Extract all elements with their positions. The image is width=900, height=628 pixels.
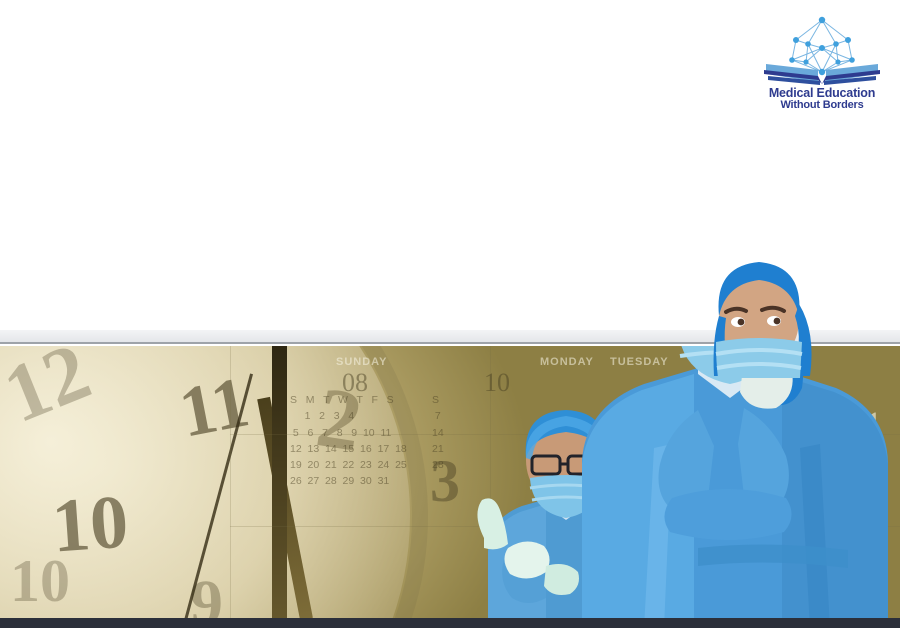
- feature-badges: 365 DAYS ALL YEAR LONG: [80, 272, 650, 328]
- subtitle-pill: for Healthcare Practitioners: [74, 188, 810, 244]
- subtitle-text: for Healthcare Practitioners: [197, 197, 687, 235]
- title-line-1: Stress Management: [0, 38, 790, 97]
- badge-divider-2: [456, 277, 457, 323]
- feature-0-line1: ALL YEAR: [135, 279, 229, 300]
- calendar-numeral-10: 10: [10, 551, 70, 611]
- icon-text-days: DAYS: [93, 303, 113, 312]
- feature-all-year-long[interactable]: 365 DAYS ALL YEAR LONG: [80, 272, 229, 328]
- logo[interactable]: Medical Education Without Borders: [762, 14, 882, 106]
- practitioner-foreground-female: [548, 346, 900, 618]
- page-title: Stress Management and Time Management: [0, 38, 790, 157]
- feature-label-accessible: ACCESSIBLE 24/7: [317, 279, 439, 320]
- 365-days-circular-arrow-icon: 365 DAYS: [80, 277, 126, 323]
- feature-1-line2: 24/7: [317, 300, 439, 321]
- feature-2-line2: COURSE: [530, 300, 611, 321]
- calendar-month-10: 10: [484, 368, 510, 398]
- feature-label-all-year-long: ALL YEAR LONG: [135, 279, 229, 320]
- feature-1-line1: ACCESSIBLE: [317, 279, 439, 300]
- calendar-grid-right: S 7 14 21 28: [432, 392, 444, 473]
- feature-accessible-24-7[interactable]: ACCESSIBLE 24/7: [262, 272, 439, 328]
- title-line-2: and Time Management: [0, 97, 790, 156]
- feature-label-online-course: ONLINE COURSE: [530, 279, 611, 320]
- calendar-label-sunday: SUNDAY: [336, 356, 387, 368]
- calendar-grid-left: S M T W T F S 1 2 3 4 5 6 7 8 9 10 11 12…: [290, 392, 407, 490]
- practitioner-head-overlap: [700, 258, 818, 378]
- laptop-icon: [473, 279, 521, 321]
- course-promo-banner: 12 11 10 9 2 3 10 11 SUNDAY MONDAY TUESD…: [0, 0, 900, 628]
- feature-online-course[interactable]: ONLINE COURSE: [473, 272, 611, 328]
- logo-text-line2: Without Borders: [762, 100, 882, 111]
- feature-0-line2: LONG: [135, 300, 229, 321]
- brain-network-book-icon: [762, 14, 882, 86]
- badge-divider-1: [245, 277, 246, 323]
- clock-minute-hand: [272, 346, 287, 618]
- hero-photo: 12 11 10 9 2 3 10 11 SUNDAY MONDAY TUESD…: [0, 346, 900, 618]
- feature-2-line1: ONLINE: [530, 279, 611, 300]
- clock-arrow-icon: [262, 277, 308, 323]
- bottom-bar: [0, 618, 900, 628]
- logo-text-line1: Medical Education: [762, 87, 882, 100]
